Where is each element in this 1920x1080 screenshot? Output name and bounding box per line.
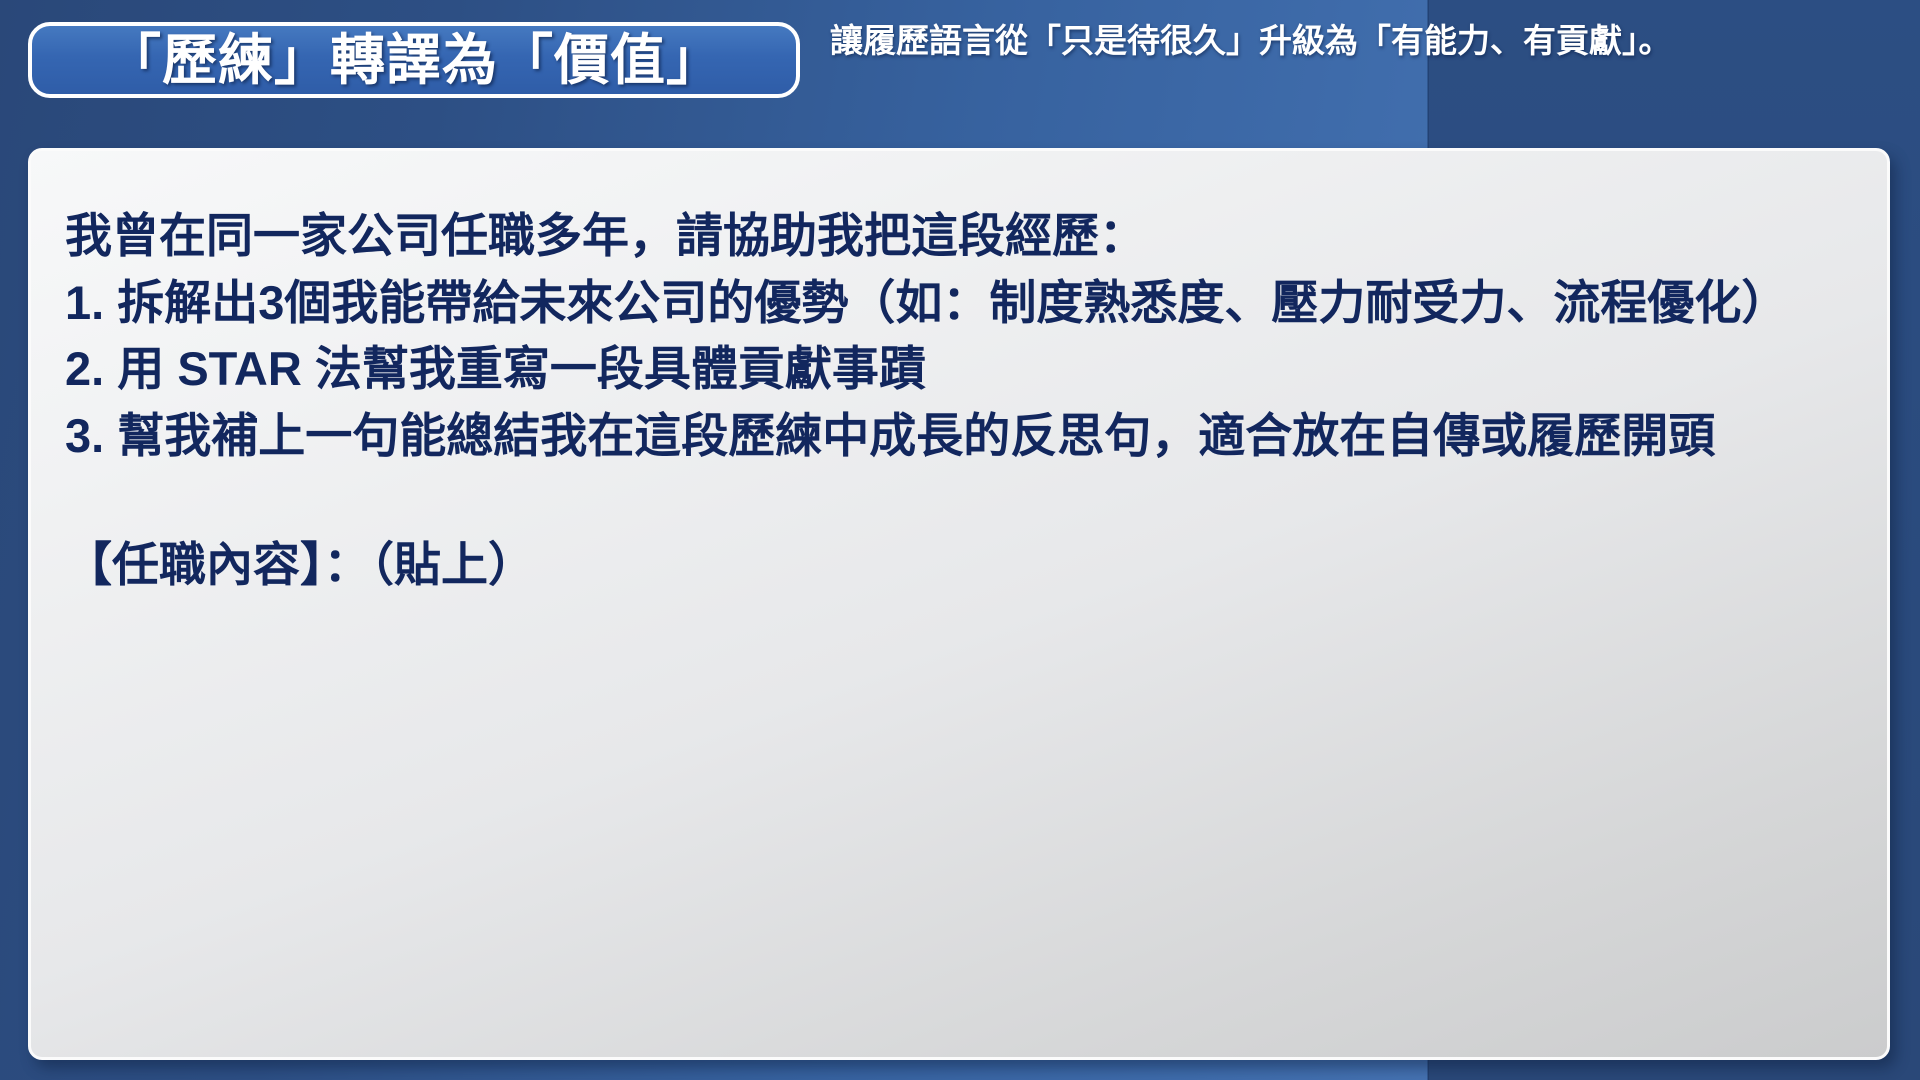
- title-pill-label: 「歷練」轉譯為「價值」: [106, 33, 722, 88]
- slide-header: 「歷練」轉譯為「價值」 讓履歷語言從「只是待很久」升級為「有能力、有貢獻」。: [0, 0, 1920, 130]
- prompt-line: 我曾在同一家公司任職多年，請協助我把這段經歷：: [65, 203, 1861, 270]
- prompt-line: 2. 用 STAR 法幫我重寫一段具體貢獻事蹟: [65, 336, 1861, 403]
- prompt-card-body: 我曾在同一家公司任職多年，請協助我把這段經歷： 1. 拆解出3個我能帶給未來公司…: [65, 203, 1861, 599]
- slide: 「歷練」轉譯為「價值」 讓履歷語言從「只是待很久」升級為「有能力、有貢獻」。 我…: [0, 0, 1920, 1080]
- header-subtitle: 讓履歷語言從「只是待很久」升級為「有能力、有貢獻」。: [830, 20, 1895, 62]
- prompt-card: 我曾在同一家公司任職多年，請協助我把這段經歷： 1. 拆解出3個我能帶給未來公司…: [28, 148, 1890, 1060]
- prompt-line-placeholder: 【任職內容】：（貼上）: [65, 532, 1861, 599]
- prompt-line: 3. 幫我補上一句能總結我在這段歷練中成長的反思句，適合放在自傳或履歷開頭: [65, 403, 1861, 470]
- prompt-line: 1. 拆解出3個我能帶給未來公司的優勢（如：制度熟悉度、壓力耐受力、流程優化）: [65, 270, 1861, 337]
- title-pill: 「歷練」轉譯為「價值」: [28, 22, 800, 98]
